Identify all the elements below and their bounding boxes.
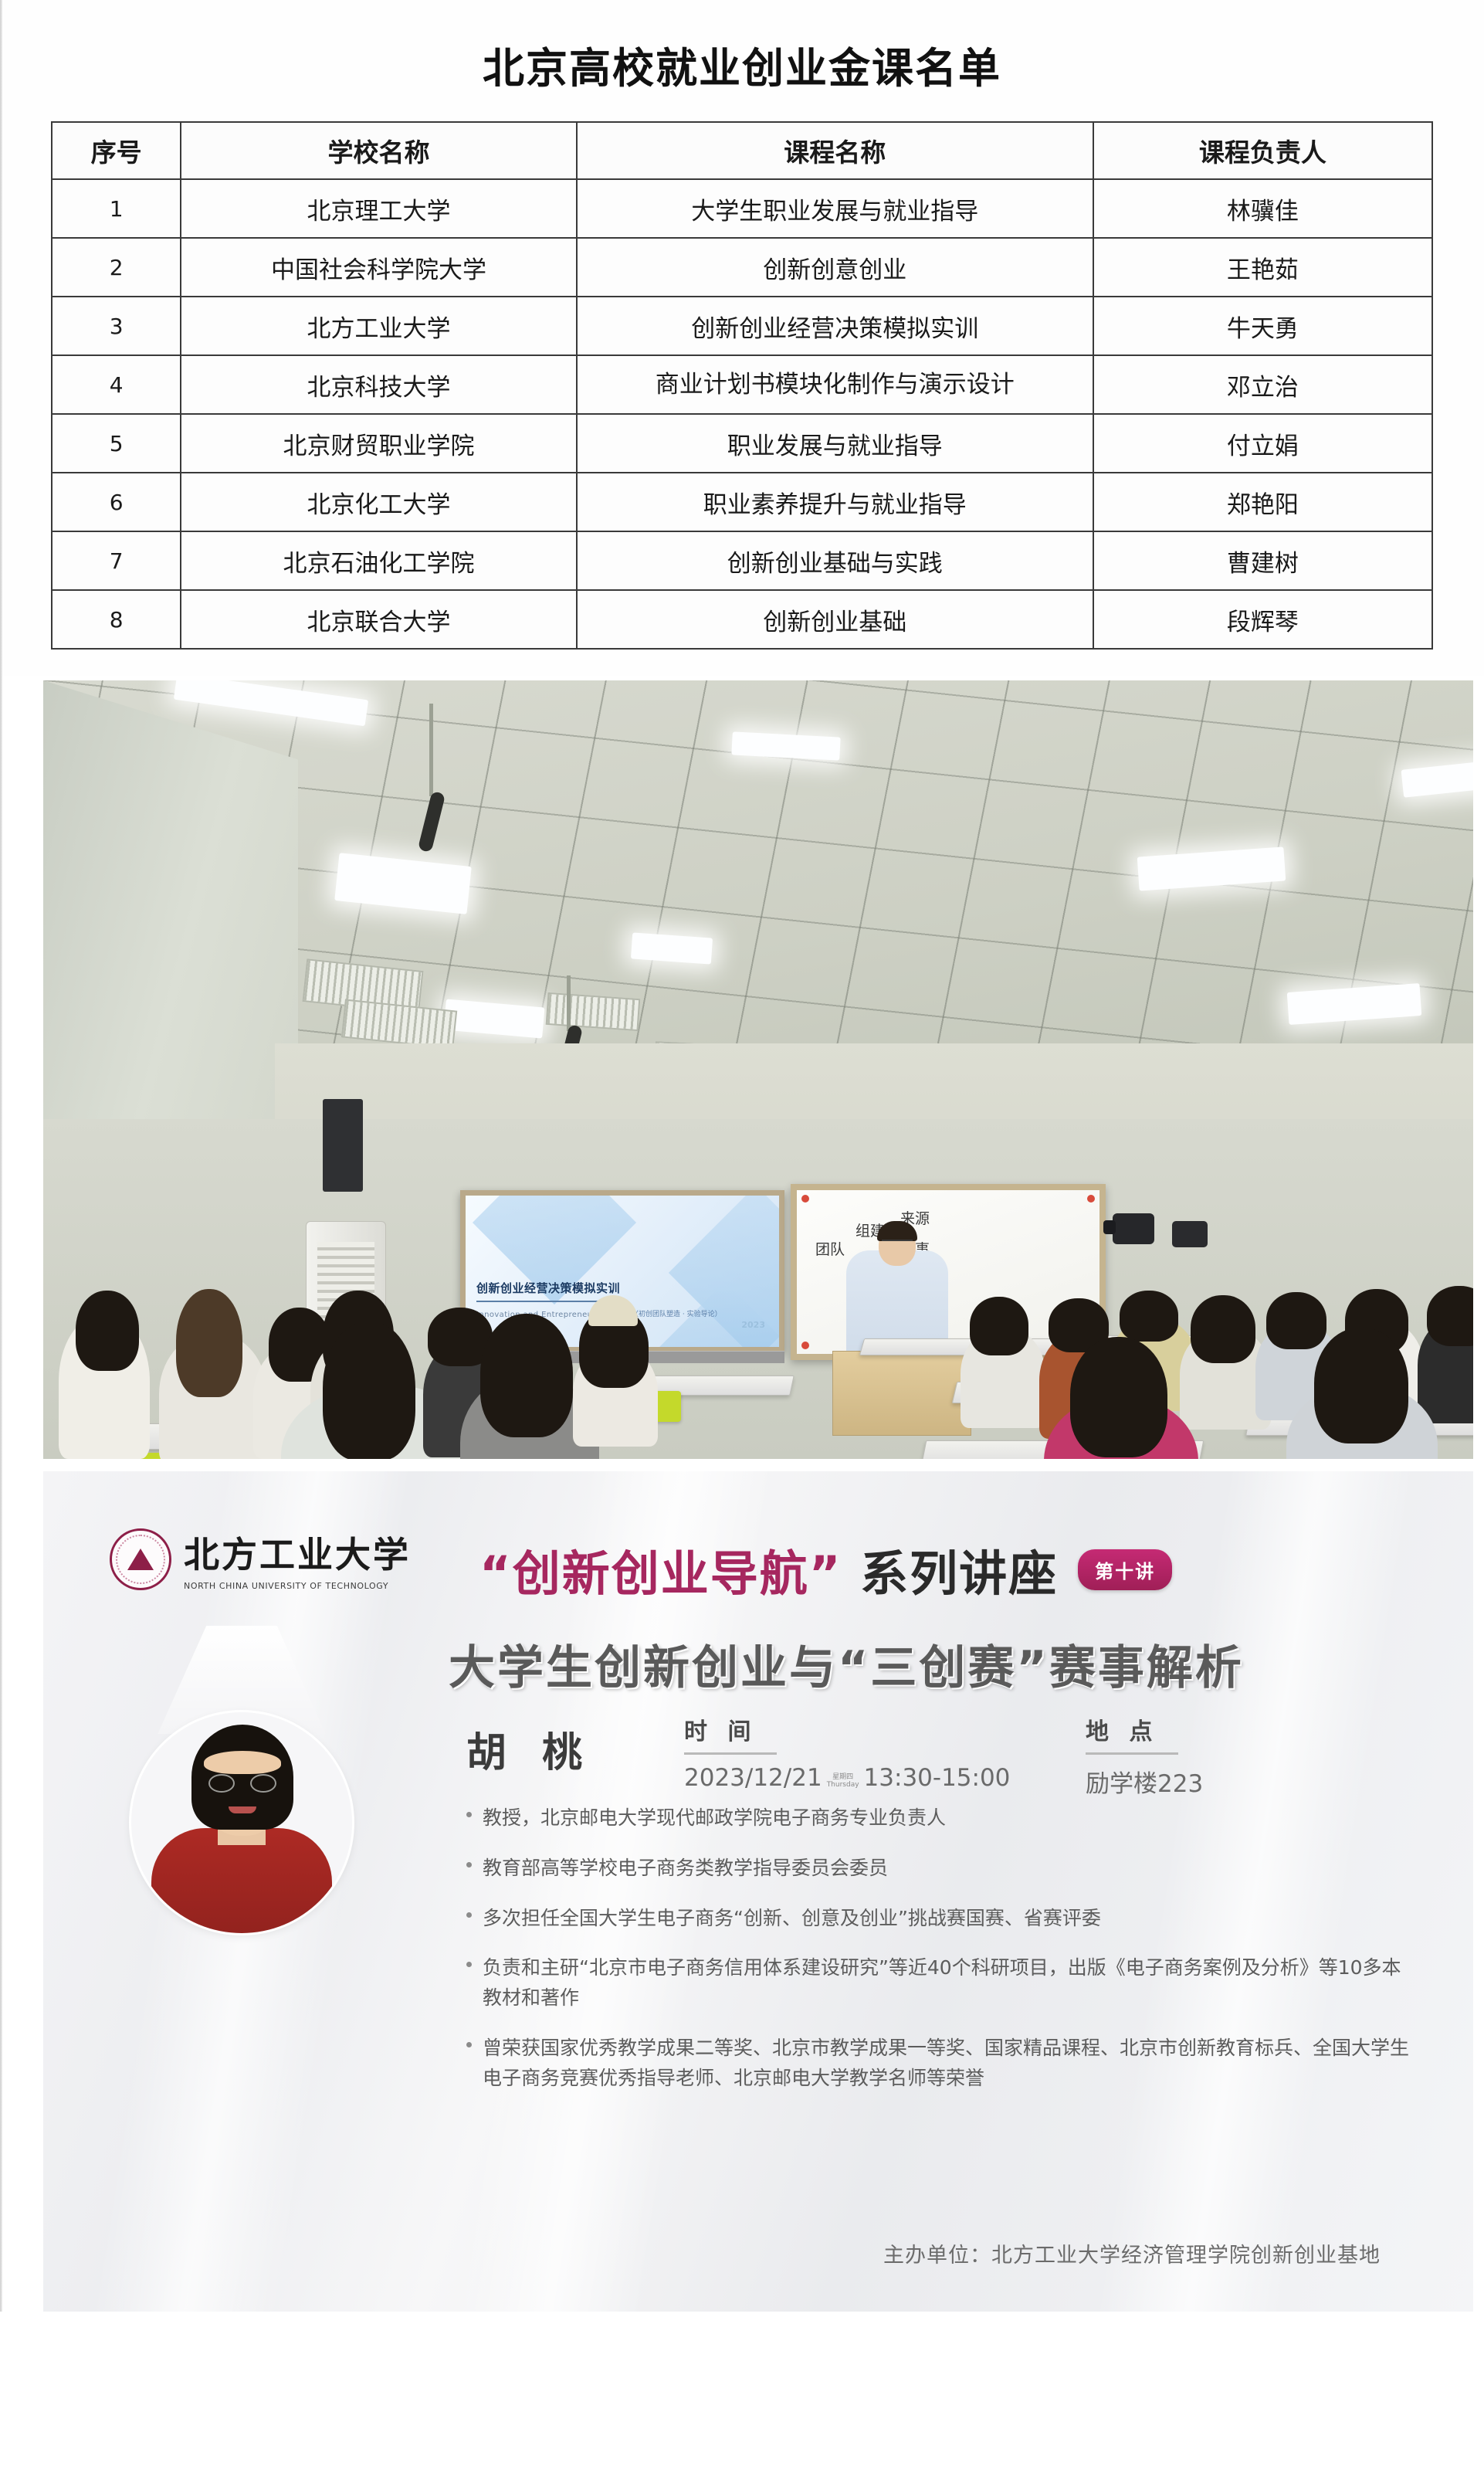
microphone-cable [567,975,571,1031]
university-logo: 北方工业大学 NORTH CHINA UNIVERSITY OF TECHNOL… [110,1527,411,1591]
page-title: 北京高校就业创业金课名单 [0,17,1484,121]
series-title-rest: 系列讲座 [860,1545,1058,1602]
bio-text: 多次担任全国大学生电子商务“创新、创意及创业”挑战赛国赛、省赛评委 [483,1904,1101,1934]
table-row: 7 北京石油化工学院 创新创业基础与实践 曹建树 [52,531,1432,590]
instructor-glasses [882,1240,913,1247]
cell-owner: 邓立治 [1093,355,1432,414]
cell-course: 商业计划书模块化制作与演示设计 [577,355,1093,414]
cell-owner: 林骥佳 [1093,179,1432,238]
classroom-photo: 创新创业经营决策模拟实训 Innovation and Entrepreneur… [43,680,1473,1459]
cell-index: 7 [52,531,181,590]
cell-course: 职业素养提升与就业指导 [577,473,1093,531]
cell-school: 北京财贸职业学院 [181,414,576,473]
speaker-bio-list: 教授，北京邮电大学现代邮政学院电子商务专业负责人 教育部高等学校电子商务类教学指… [466,1803,1416,2093]
column-header-owner: 课程负责人 [1093,122,1432,179]
ceiling-lamp [631,932,713,964]
cell-index: 8 [52,590,181,649]
slide-year: 2023 [741,1320,765,1330]
cell-course: 大学生职业发展与就业指导 [577,179,1093,238]
university-name-en: NORTH CHINA UNIVERSITY OF TECHNOLOGY [184,1581,411,1591]
page-root: 北京高校就业创业金课名单 序号 学校名称 课程名称 课程负责人 1 北京理工大学… [0,0,1484,2312]
table-header-row: 序号 学校名称 课程名称 课程负责人 [52,122,1432,179]
weekday-en: Thursday [827,1782,859,1789]
table-row: 2 中国社会科学院大学 创新创意创业 王艳茹 [52,238,1432,297]
portrait-circle-frame [131,1712,352,1933]
time-range: 13:30-15:00 [864,1764,1011,1792]
university-name-cn: 北方工业大学 [184,1527,411,1578]
cell-owner: 段辉琴 [1093,590,1432,649]
cell-owner: 王艳茹 [1093,238,1432,297]
time-label: 时 间 [684,1712,777,1755]
time-block: 时 间 2023/12/21 星期四 Thursday 13:30-15:00 [684,1712,1010,1792]
cell-course: 创新创业基础 [577,590,1093,649]
table-row: 8 北京联合大学 创新创业基础 段辉琴 [52,590,1432,649]
student-hair [1070,1337,1167,1457]
portrait-glasses-icon [208,1774,276,1793]
bullet-dot-icon [466,1962,472,1967]
cell-school: 北京理工大学 [181,179,576,238]
cell-owner: 郑艳阳 [1093,473,1432,531]
golden-course-table: 序号 学校名称 课程名称 课程负责人 1 北京理工大学 大学生职业发展与就业指导… [51,121,1433,650]
list-item: 负责和主研“北京市电子商务信用体系建设研究”等近40个科研项目，出版《电子商务案… [466,1953,1416,2013]
bullet-dot-icon [466,1862,472,1867]
speaker-portrait [117,1626,364,1935]
lecture-title: 大学生创新创业与“三创赛”赛事解析 [449,1630,1244,1698]
student-hair [76,1291,139,1371]
microphone-cable [429,704,433,796]
magnet [801,1195,809,1203]
wall-speaker [323,1099,363,1192]
cell-owner: 曹建树 [1093,531,1432,590]
table-row: 1 北京理工大学 大学生职业发展与就业指导 林骥佳 [52,179,1432,238]
cell-course: 创新创意创业 [577,238,1093,297]
cell-school: 中国社会科学院大学 [181,238,576,297]
cell-course: 职业发展与就业指导 [577,414,1093,473]
student-hair [1120,1291,1178,1342]
speaker-name: 胡 桃 [466,1720,593,1778]
bullet-dot-icon [466,1812,472,1817]
list-item: 教育部高等学校电子商务类教学指导委员会委员 [466,1854,1416,1884]
table-row: 5 北京财贸职业学院 职业发展与就业指导 付立娟 [52,414,1432,473]
cell-school: 北京化工大学 [181,473,576,531]
time-date: 2023/12/21 [684,1764,822,1792]
place-label: 地 点 [1086,1712,1178,1755]
table-row: 3 北方工业大学 创新创业经营决策模拟实训 牛天勇 [52,297,1432,355]
table-row: 4 北京科技大学 商业计划书模块化制作与演示设计 邓立治 [52,355,1432,414]
seal-mountain-glyph [127,1549,154,1570]
lecture-poster-section: 北方工业大学 NORTH CHINA UNIVERSITY OF TECHNOL… [0,1465,1484,2312]
bio-text: 曾荣获国家优秀教学成果二等奖、北京市教学成果一等奖、国家精品课程、北京市创新教育… [483,2034,1416,2094]
cell-index: 4 [52,355,181,414]
student-hair [1191,1295,1255,1363]
lectern [832,1351,971,1436]
student-hair [480,1314,573,1437]
student-hair [1314,1328,1408,1443]
cell-index: 2 [52,238,181,297]
classroom-photo-section: 创新创业经营决策模拟实训 Innovation and Entrepreneur… [0,676,1484,1465]
student-hair [1266,1292,1326,1349]
column-header-index: 序号 [52,122,181,179]
left-wall [43,680,298,1175]
table-row: 6 北京化工大学 职业素养提升与就业指导 郑艳阳 [52,473,1432,531]
cell-index: 6 [52,473,181,531]
place-block: 地 点 励学楼223 [1086,1712,1203,1799]
slide-subtitle-cn: （初创团队塑造 · 实验导论） [632,1308,722,1318]
weekday: 星期四 Thursday [827,1774,859,1789]
cell-school: 北京科技大学 [181,355,576,414]
magnet [801,1342,809,1349]
cell-index: 3 [52,297,181,355]
bullet-dot-icon [466,1912,472,1918]
cell-index: 1 [52,179,181,238]
place-value: 励学楼223 [1086,1764,1203,1799]
cell-course: 创新创业经营决策模拟实训 [577,297,1093,355]
list-item: 教授，北京邮电大学现代邮政学院电子商务专业负责人 [466,1803,1416,1834]
golden-course-list-section: 北京高校就业创业金课名单 序号 学校名称 课程名称 课程负责人 1 北京理工大学… [0,0,1484,676]
magnet [1087,1195,1095,1203]
video-camera [1113,1213,1154,1244]
list-item: 曾荣获国家优秀教学成果二等奖、北京市教学成果一等奖、国家精品课程、北京市创新教育… [466,2034,1416,2094]
ceiling-air-vent [546,992,641,1031]
cell-course: 创新创业基础与实践 [577,531,1093,590]
time-value-row: 2023/12/21 星期四 Thursday 13:30-15:00 [684,1764,1010,1792]
slide-title: 创新创业经营决策模拟实训 [476,1280,620,1296]
cell-school: 北京石油化工学院 [181,531,576,590]
cell-school: 北方工业大学 [181,297,576,355]
bio-text: 教育部高等学校电子商务类教学指导委员会委员 [483,1854,888,1884]
cell-school: 北京联合大学 [181,590,576,649]
portrait-mouth [229,1806,256,1813]
series-title-row: “创新创业导航” 系列讲座 第十讲 [479,1535,1172,1604]
student-hair [970,1297,1028,1355]
student-hair [176,1289,242,1397]
bullet-dot-icon [466,2042,472,2047]
video-camera [1172,1221,1208,1247]
episode-badge: 第十讲 [1078,1549,1172,1590]
student-hair [323,1321,415,1459]
bio-text: 教授，北京邮电大学现代邮政学院电子商务专业负责人 [483,1803,946,1834]
organizer-line: 主办单位：北方工业大学经济管理学院创新创业基地 [883,2238,1381,2268]
cell-owner: 付立娟 [1093,414,1432,473]
cell-owner: 牛天勇 [1093,297,1432,355]
cell-index: 5 [52,414,181,473]
list-item: 多次担任全国大学生电子商务“创新、创意及创业”挑战赛国赛、省赛评委 [466,1904,1416,1934]
column-header-course: 课程名称 [577,122,1093,179]
lecture-poster: 北方工业大学 NORTH CHINA UNIVERSITY OF TECHNOL… [43,1471,1473,2312]
bio-text: 负责和主研“北京市电子商务信用体系建设研究”等近40个科研项目，出版《电子商务案… [483,1953,1416,2013]
series-title: “创新创业导航” 系列讲座 [479,1535,1058,1604]
series-title-quoted: “创新创业导航” [479,1545,842,1602]
university-seal-icon [110,1528,171,1590]
column-header-school: 学校名称 [181,122,576,179]
whiteboard-text: 团队 [815,1238,845,1259]
